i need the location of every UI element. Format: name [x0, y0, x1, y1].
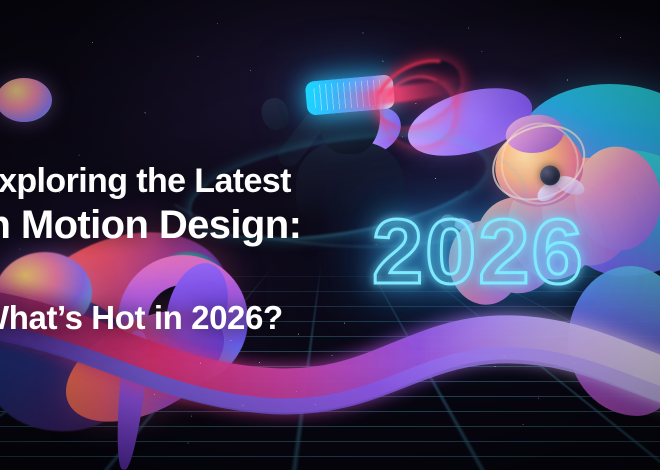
motion-design-banner: 2026 Exploring the Latest in Motion Desi…	[0, 0, 660, 470]
headline-line-2: in Motion Design:	[0, 202, 406, 248]
headline-line-1: Exploring the Latest	[0, 160, 406, 202]
subheadline: What’s Hot in 2026?	[0, 296, 283, 340]
headline-block: Exploring the Latest in Motion Design:	[0, 160, 406, 248]
